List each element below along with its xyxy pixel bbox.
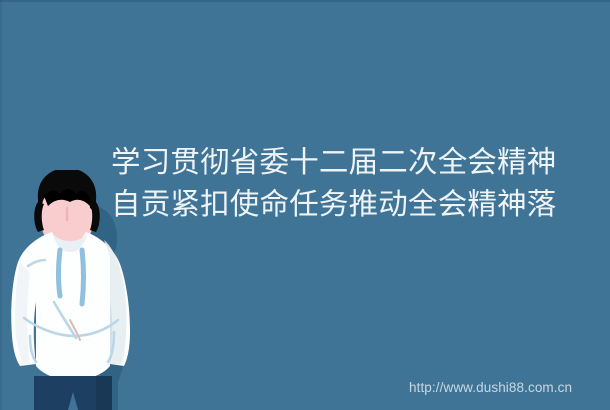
site-url-watermark: http://www.dushi88.com.cn: [409, 380, 572, 395]
headline: 学习贯彻省委十二届二次全会精神 自贡紧扣使命任务推动全会精神落: [111, 142, 610, 226]
headline-line-1: 学习贯彻省委十二届二次全会精神: [111, 142, 610, 184]
headline-line-2: 自贡紧扣使命任务推动全会精神落: [111, 184, 610, 226]
news-banner-image: 学习贯彻省委十二届二次全会精神 自贡紧扣使命任务推动全会精神落 http://w…: [0, 0, 610, 410]
pants: [34, 376, 112, 410]
hoodie: [11, 232, 130, 380]
